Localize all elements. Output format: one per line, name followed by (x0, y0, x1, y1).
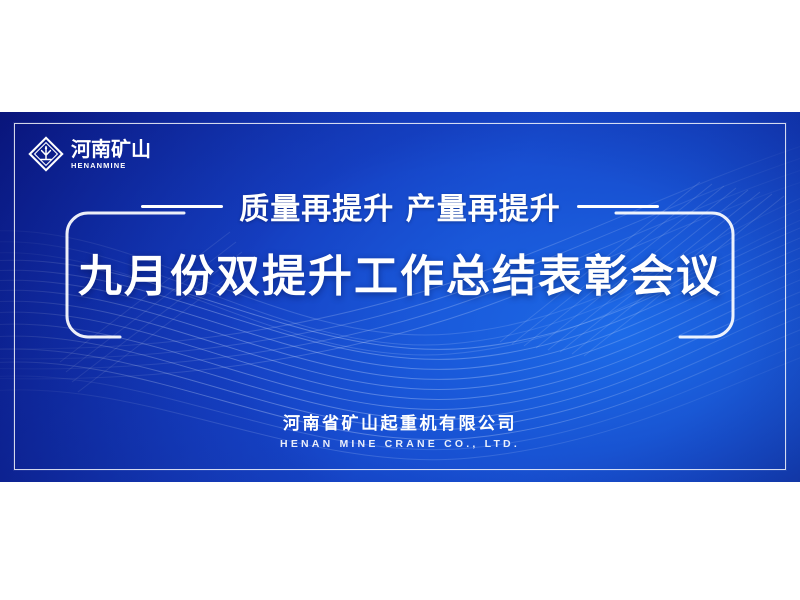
company-name-english: HENAN MINE CRANE CO., LTD. (0, 438, 800, 450)
banner-subtitle: 质量再提升 产量再提升 (239, 184, 560, 228)
headline-block: 质量再提升 产量再提升 九月份双提升工作总结表彰会议 (64, 184, 736, 344)
logo-chinese-name: 河南矿山 (71, 139, 151, 159)
banner-headline: 九月份双提升工作总结表彰会议 (64, 240, 736, 304)
diamond-emblem-icon (28, 136, 64, 172)
company-logo: 河南矿山 HENANMINE (28, 136, 151, 172)
company-footer: 河南省矿山起重机有限公司 HENAN MINE CRANE CO., LTD. (0, 409, 800, 450)
subtitle-rule-right (577, 205, 659, 208)
logo-wordmark: 河南矿山 HENANMINE (71, 139, 151, 170)
image-canvas: 河南矿山 HENANMINE 质量再提升 产量再提升 九月份双提升工作总结表彰会… (0, 0, 800, 600)
company-name-chinese: 河南省矿山起重机有限公司 (0, 409, 800, 434)
logo-english-name: HENANMINE (71, 162, 151, 170)
subtitle-rule-left (141, 205, 223, 208)
subtitle-row: 质量再提升 产量再提升 (64, 184, 736, 228)
conference-banner: 河南矿山 HENANMINE 质量再提升 产量再提升 九月份双提升工作总结表彰会… (0, 112, 800, 482)
